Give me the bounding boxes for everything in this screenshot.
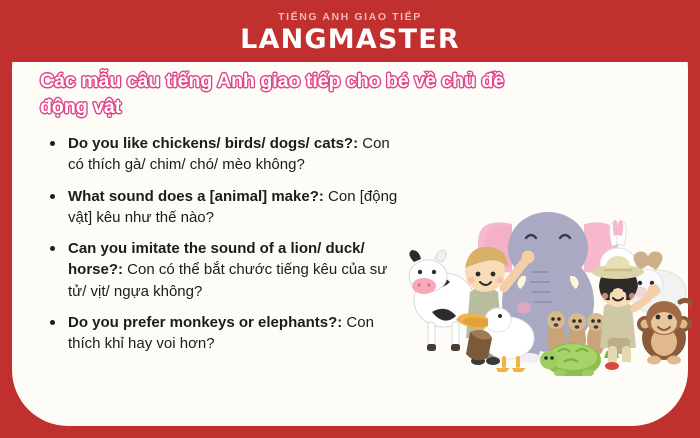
phrase-english: What sound does a [animal] make?:	[68, 188, 324, 205]
brand-logo: TIẾNG ANH GIAO TIẾP LANGMASTER	[0, 12, 700, 53]
list-item: Do you like chickens/ birds/ dogs/ cats?…	[46, 133, 406, 176]
phrase-list: Do you like chickens/ birds/ dogs/ cats?…	[46, 133, 406, 365]
phrase-english: Do you like chickens/ birds/ dogs/ cats?…	[68, 135, 358, 152]
list-item: Do you prefer monkeys or elephants?: Con…	[46, 312, 406, 355]
phrase-english: Do you prefer monkeys or elephants?:	[68, 314, 342, 331]
cow	[409, 250, 474, 351]
page-title: Các mẫu câu tiếng Anh giao tiếp cho bé v…	[40, 68, 510, 121]
kids-with-animals-illustration	[408, 180, 692, 376]
list-item: Can you imitate the sound of a lion/ duc…	[46, 238, 406, 302]
tree-stump	[466, 330, 492, 360]
logo-name: LANGMASTER	[0, 26, 700, 53]
list-item: What sound does a [animal] make?: Con [đ…	[46, 186, 406, 229]
logo-subtitle: TIẾNG ANH GIAO TIẾP	[0, 12, 700, 23]
slide-canvas: TIẾNG ANH GIAO TIẾP LANGMASTER Các mẫu c…	[0, 0, 700, 438]
